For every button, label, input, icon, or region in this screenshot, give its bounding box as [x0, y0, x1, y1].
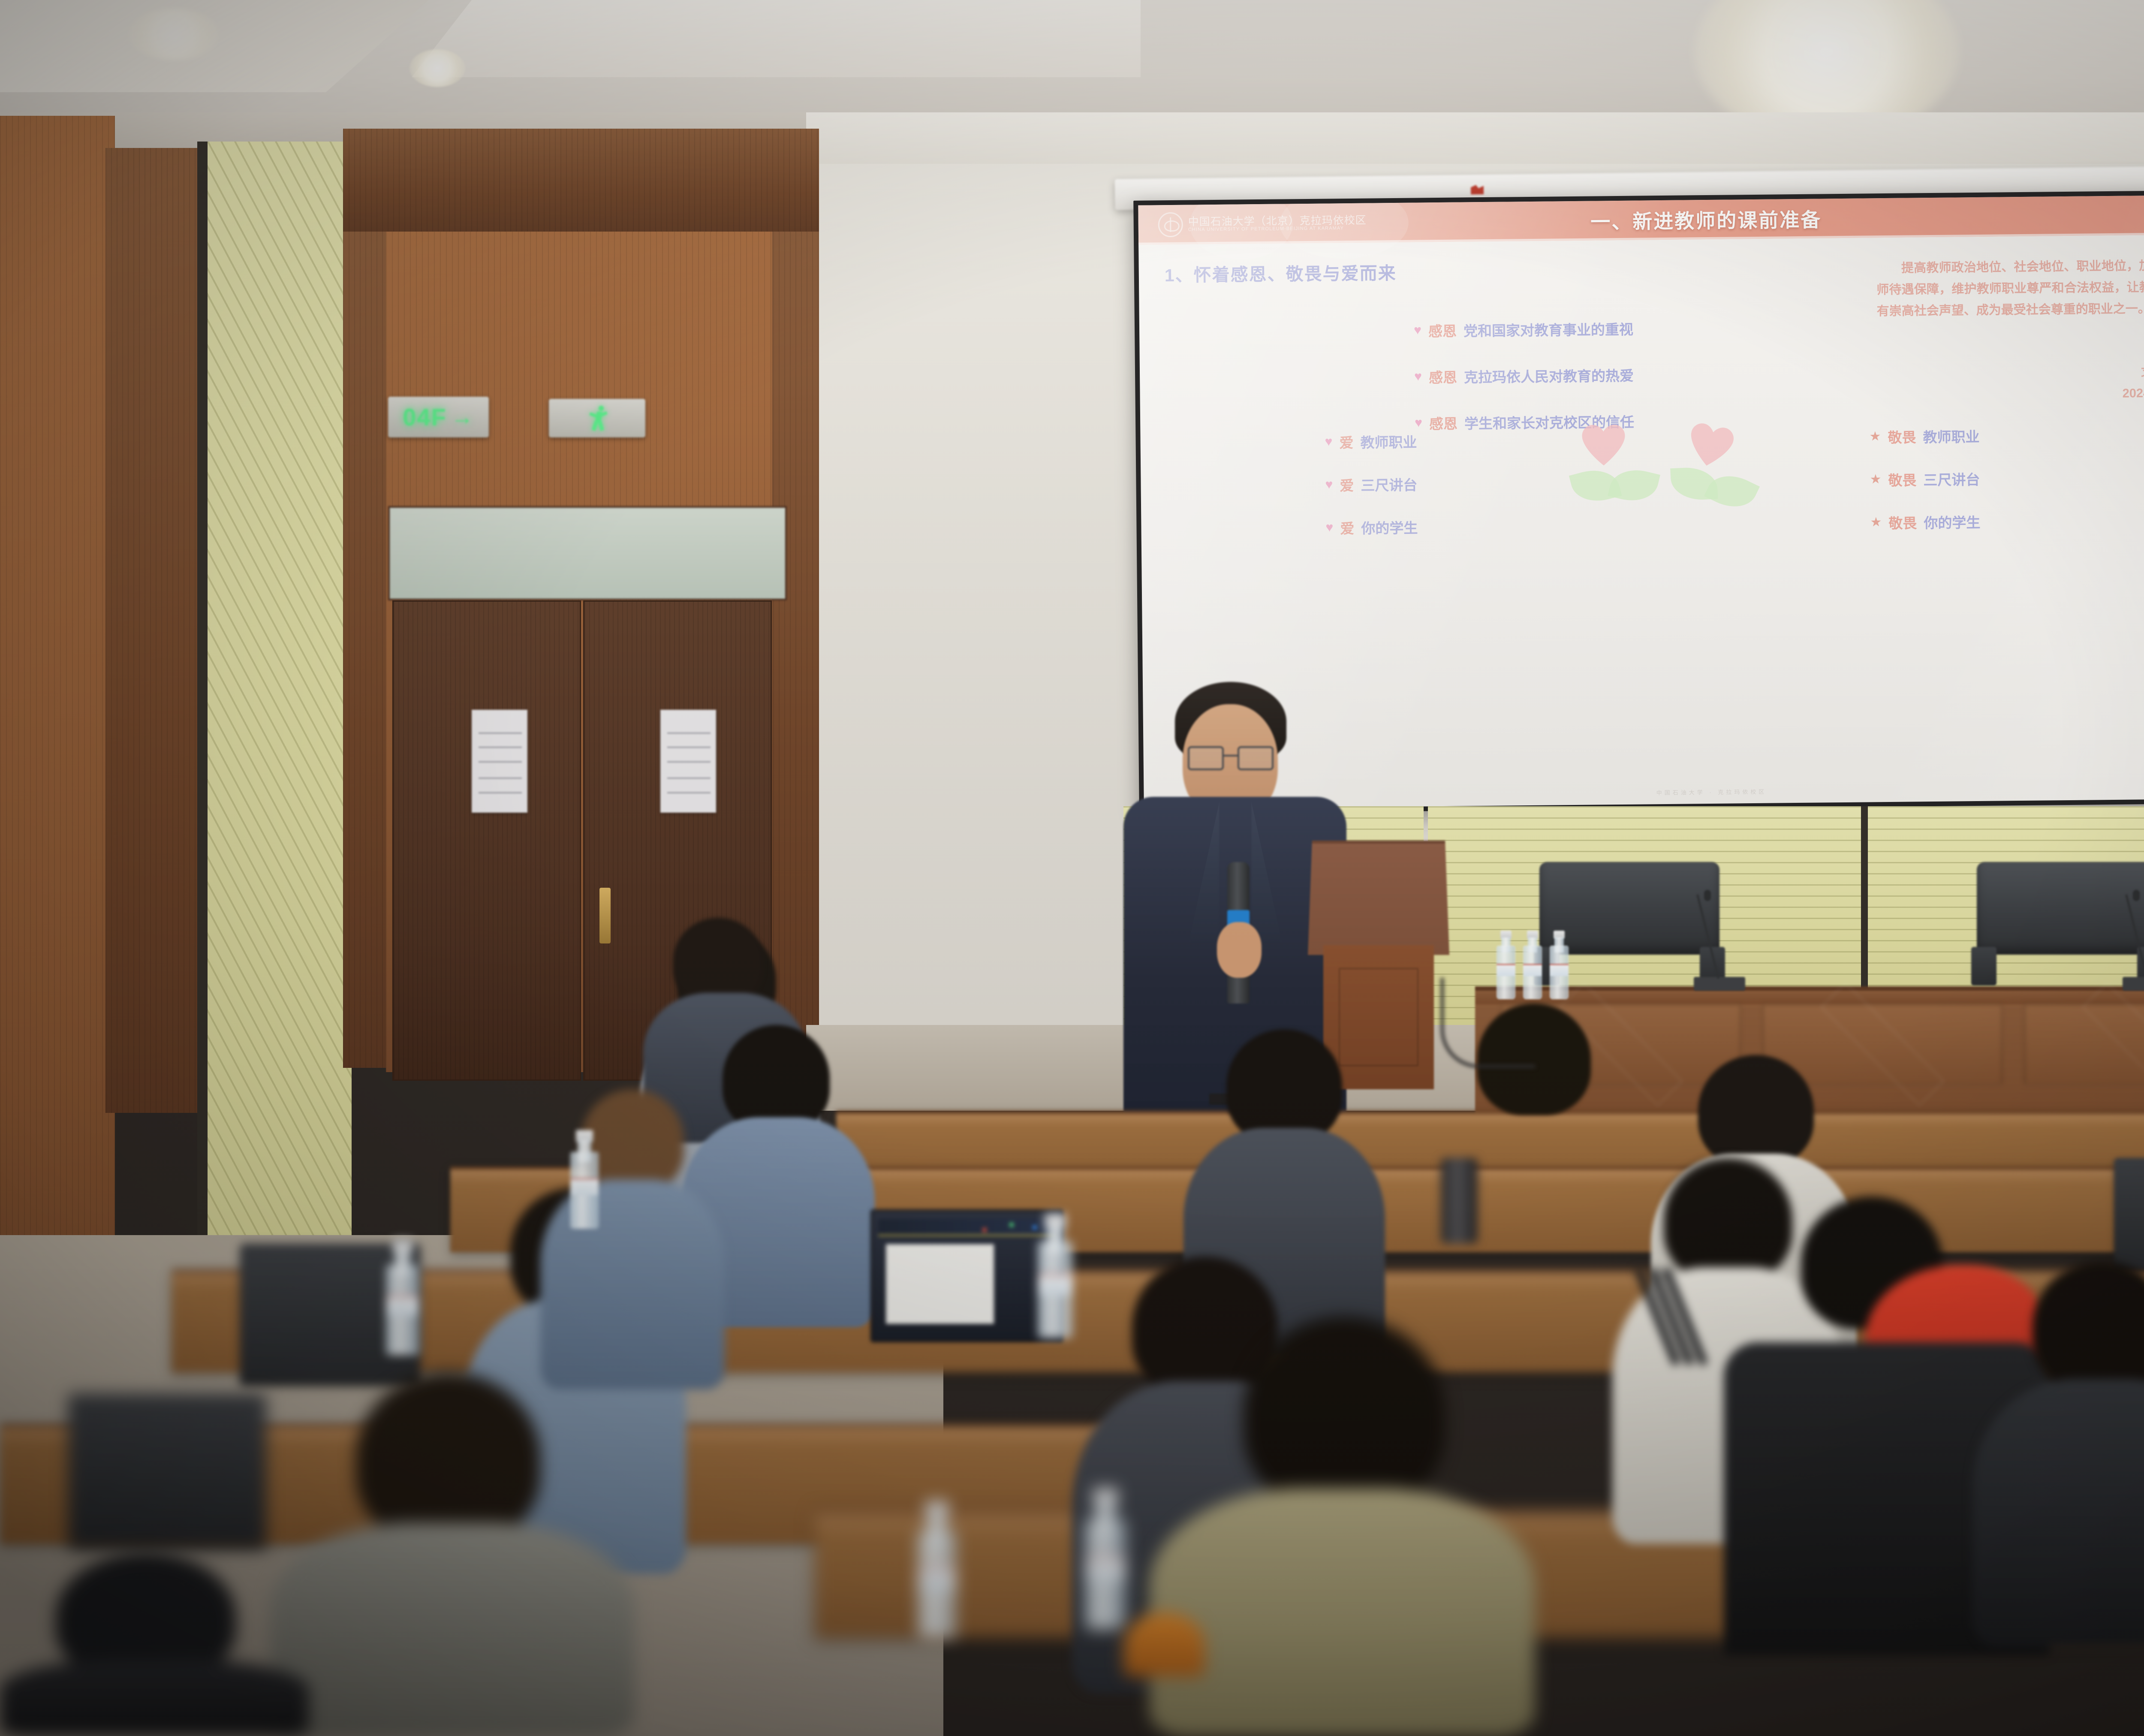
heart-bullet-icon: ♥ [1414, 324, 1421, 337]
bullet-emphasis: 爱 [1340, 517, 1354, 538]
person-torso [1972, 1379, 2144, 1647]
back-wall-upper-right [806, 112, 2144, 164]
bottle-label [1497, 964, 1515, 976]
mic-capsule [1704, 890, 1711, 901]
housing-brand-icon [1471, 185, 1484, 194]
ceiling-soffit-center [412, 0, 1141, 77]
floor-sign-arrow: → [451, 404, 474, 430]
downlight-3 [129, 9, 219, 60]
love-bullet-1: ♥ 爱 教师职业 [1325, 431, 1417, 452]
thermos-flask[interactable] [1441, 1158, 1478, 1244]
panel-frame-left [197, 142, 208, 1239]
mic-base [2123, 977, 2144, 991]
entry-door-left[interactable] [392, 600, 581, 1081]
heart-bullet-icon: ♥ [1415, 416, 1422, 429]
person-hair [1698, 1055, 1814, 1166]
water-bottle-head-table-3[interactable] [1550, 931, 1569, 999]
bottle-label [1038, 1275, 1073, 1296]
exit-sign [549, 399, 645, 437]
downlight-1 [410, 49, 465, 87]
person-hair [356, 1372, 540, 1544]
lectern-top [1308, 841, 1449, 955]
heart-bullet-icon: ♥ [1414, 370, 1422, 383]
star-bullet-icon: ★ [1870, 473, 1881, 486]
slide-quote-attribution: 习近平 2024.9.10 [1877, 363, 2144, 406]
mic-capsule [2133, 890, 2140, 901]
laptop-toolbar [878, 1219, 1056, 1236]
table-microphone-1[interactable] [1694, 892, 1745, 991]
bullet-emphasis: 感恩 [1429, 413, 1457, 434]
heart-leaf-figure-left [1582, 424, 1647, 502]
water-bottle-desk-2[interactable] [386, 1239, 419, 1355]
glasses-lens-right [1238, 746, 1274, 770]
person-torso [270, 1522, 635, 1736]
bullet-emphasis: 感恩 [1429, 366, 1457, 387]
laptop-status-dot-green [1009, 1223, 1014, 1227]
bullet-text: 教师职业 [1923, 425, 1979, 446]
love-bullet-3: ♥ 爱 你的学生 [1325, 517, 1418, 538]
glasses-bridge [1224, 755, 1238, 756]
mic-base [1694, 977, 1745, 991]
door-notice-left [472, 710, 527, 813]
acoustic-panel-left [206, 142, 352, 1239]
bullet-text: 党和国家对教育事业的重视 [1463, 318, 1633, 341]
mic-stem [2125, 894, 2144, 979]
laptop-status-dot-blue [1033, 1225, 1037, 1230]
water-bottle-desk-3[interactable] [1038, 1214, 1073, 1338]
leaf-shape-right [1704, 467, 1760, 516]
person-hair [1244, 1317, 1445, 1510]
head-table-chair-2[interactable] [1977, 862, 2144, 991]
water-bottle-desk-4[interactable] [1085, 1488, 1126, 1630]
gratitude-bullet-2: ♥ 感恩 克拉玛依人民对教育的热爱 [1414, 365, 1634, 387]
audience-person-12-foreground [1149, 1317, 1535, 1736]
bullet-emphasis: 爱 [1340, 474, 1354, 495]
awe-bullet-1: ★ 敬畏 教师职业 [1869, 425, 1979, 447]
star-bullet-icon: ★ [1869, 430, 1881, 443]
person-hair [673, 918, 763, 1004]
mic-stem [1696, 894, 1719, 979]
heart-bullet-icon: ♥ [1325, 435, 1332, 448]
audience-chair-r1[interactable] [2114, 1158, 2144, 1269]
floor-cable [1441, 978, 1535, 1068]
door-bay-header [343, 129, 819, 236]
bottle-label [386, 1296, 419, 1316]
bullet-emphasis: 感恩 [1428, 320, 1457, 341]
quote-author: 习近平 [1877, 363, 2144, 386]
bullet-emphasis: 敬畏 [1888, 426, 1916, 447]
heart-bullet-icon: ♥ [1325, 478, 1333, 491]
heart-leaf-figure-right [1678, 422, 1757, 510]
laptop-document-area [886, 1244, 994, 1324]
exit-running-man-icon [587, 405, 607, 431]
audience-person-16 [540, 1089, 725, 1389]
bullet-emphasis: 爱 [1339, 431, 1353, 452]
slide-subheading: 1、怀着感恩、敬畏与爱而来 [1165, 259, 1397, 286]
audience-person-14-foreground [0, 1552, 309, 1736]
bottle-label [570, 1178, 599, 1195]
gratitude-bullet-1: ♥ 感恩 党和国家对教育事业的重视 [1414, 318, 1633, 341]
awe-bullet-3: ★ 敬畏 你的学生 [1870, 511, 1980, 533]
water-bottle-desk-5[interactable] [918, 1501, 956, 1638]
table-microphone-2[interactable] [2123, 892, 2144, 991]
quote-date: 2024.9.10 [1877, 383, 2144, 406]
bullet-emphasis: 敬畏 [1888, 512, 1917, 533]
audience-laptop[interactable] [870, 1209, 1063, 1342]
bottle-label [1523, 964, 1542, 976]
bullet-text: 你的学生 [1924, 511, 1980, 532]
audience-chair-l2[interactable] [69, 1394, 266, 1548]
leaf-shape-right [1608, 464, 1660, 507]
floor-direction-sign: 04F → [388, 397, 489, 437]
bullet-text: 克拉玛依人民对教育的热爱 [1464, 365, 1634, 387]
person-hair [723, 1025, 830, 1132]
door-transom-window [388, 506, 787, 600]
slide-quote-text: 提高教师政治地位、社会地位、职业地位，加强教师待遇保障，维护教师职业尊严和合法权… [1876, 256, 2144, 322]
glasses-lens-left [1188, 746, 1224, 770]
audience-person-11-foreground [270, 1372, 635, 1736]
water-bottle-desk-1[interactable] [570, 1130, 599, 1229]
person-torso [1149, 1488, 1535, 1736]
bullet-emphasis: 敬畏 [1888, 469, 1916, 490]
orange-cup[interactable] [1123, 1612, 1205, 1677]
door-notice-right [660, 710, 716, 813]
person-hair [1226, 1029, 1342, 1143]
quote-body: 提高教师政治地位、社会地位、职业地位，加强教师待遇保障，维护教师职业尊严和合法权… [1876, 259, 2144, 318]
audience-person-15 [1972, 1261, 2144, 1647]
chair-arm-left [1971, 947, 1996, 986]
lecture-hall-scene: 04F → 中国石油大学（北京）克拉玛依校区 [0, 0, 2144, 1736]
bullet-text: 你的学生 [1361, 517, 1418, 538]
presenter-hand [1217, 922, 1262, 978]
bullet-text: 三尺讲台 [1923, 468, 1980, 489]
love-bullet-2: ♥ 爱 三尺讲台 [1325, 474, 1417, 495]
bullet-text: 教师职业 [1360, 431, 1417, 452]
laptop-status-dot-red [982, 1228, 987, 1232]
bullet-text: 三尺讲台 [1361, 474, 1417, 495]
star-bullet-icon: ★ [1870, 516, 1882, 529]
door-handle[interactable] [599, 888, 611, 943]
person-hair [2033, 1261, 2144, 1394]
floor-sign-label: 04F [403, 403, 447, 431]
bottle-label [1085, 1558, 1126, 1582]
dais-front-panel-3 [2024, 1004, 2144, 1085]
person-torso [0, 1660, 309, 1736]
chair-backrest [1977, 862, 2144, 955]
presenter-glasses [1188, 746, 1274, 770]
hearts-leaves-graphic [1578, 423, 1776, 506]
bottle-label [918, 1568, 956, 1591]
heart-bullet-icon: ♥ [1325, 521, 1333, 534]
person-torso [540, 1179, 725, 1389]
bottle-label [1550, 964, 1569, 976]
awe-bullet-2: ★ 敬畏 三尺讲台 [1870, 468, 1980, 490]
